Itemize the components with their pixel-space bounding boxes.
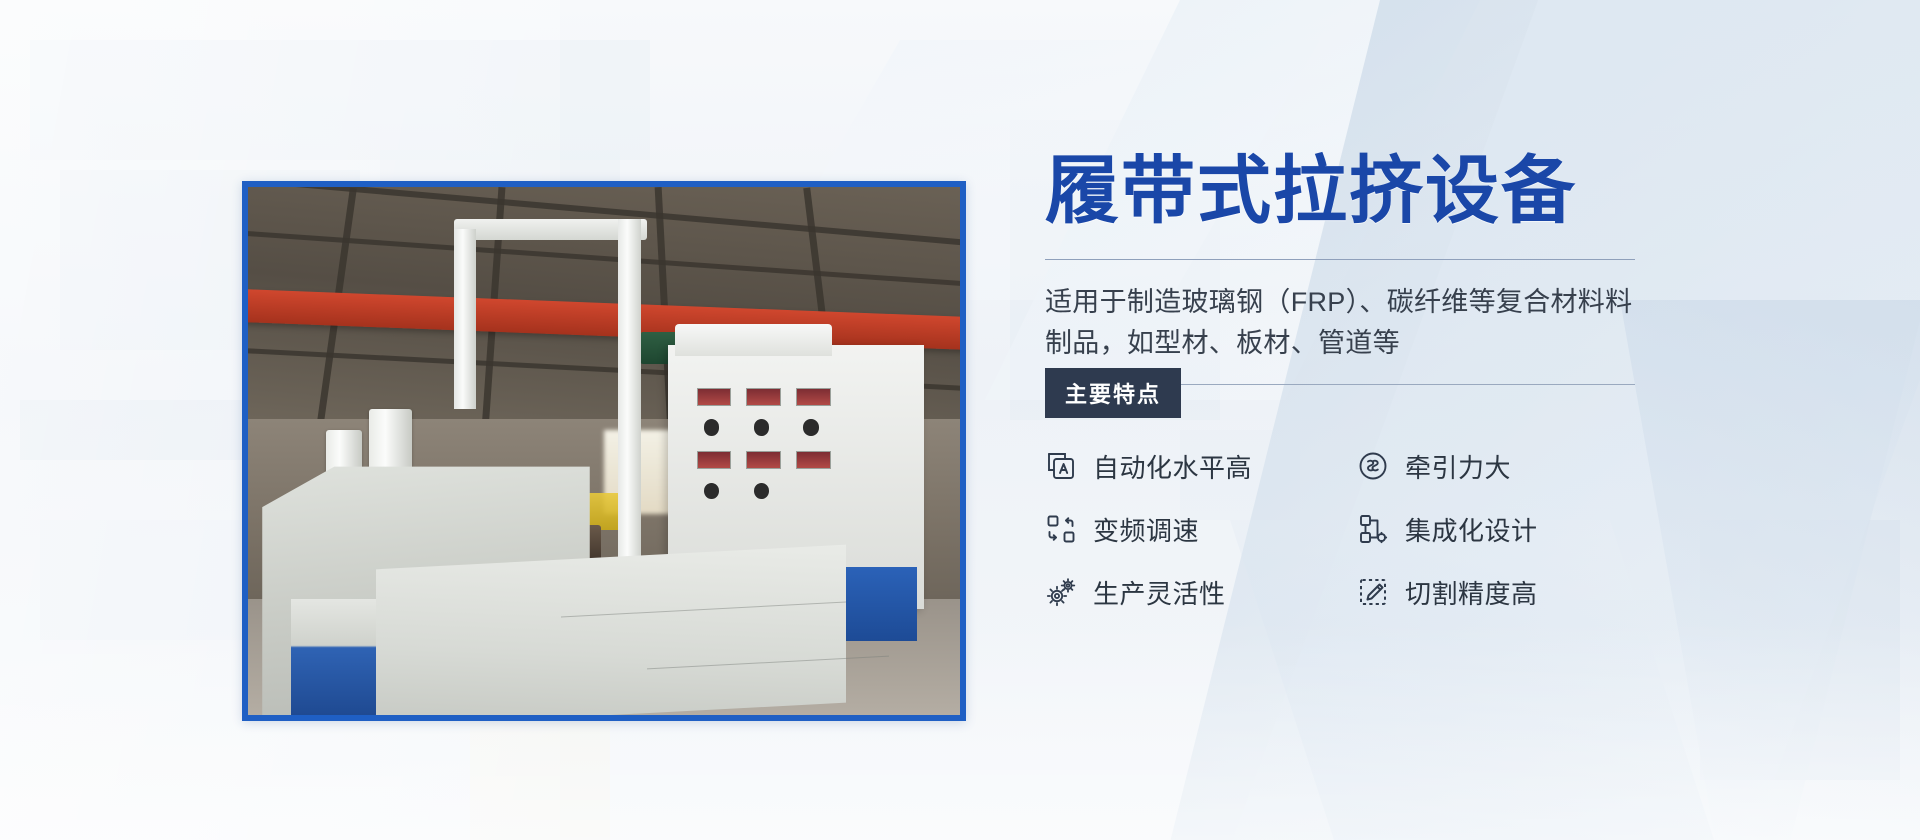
photo-cabinet-display-4 — [697, 451, 732, 469]
feature-label: 变频调速 — [1093, 511, 1199, 548]
cut-precision-pen-icon — [1357, 576, 1389, 608]
frequency-speed-icon — [1045, 513, 1077, 545]
feature-item-cut-precision[interactable]: 切割精度高 — [1357, 574, 1669, 611]
feature-label: 自动化水平高 — [1093, 448, 1252, 485]
photo-gantry-left-post — [454, 229, 475, 409]
page-title: 履带式拉挤设备 — [1045, 150, 1765, 233]
feature-item-integrated[interactable]: 集成化设计 — [1357, 511, 1669, 548]
photo-cabinet-top — [675, 324, 832, 356]
subtitle-text: 适用于制造玻璃钢（FRP）、碳纤维等复合材料料制品，如型材、板材、管道等 — [1045, 282, 1645, 364]
traction-circle-icon — [1357, 450, 1389, 482]
feature-label: 集成化设计 — [1405, 511, 1538, 548]
banner-content: 履带式拉挤设备 适用于制造玻璃钢（FRP）、碳纤维等复合材料料制品，如型材、板材… — [1045, 150, 1765, 611]
feature-item-flexibility[interactable]: 生产灵活性 — [1045, 574, 1357, 611]
feature-item-traction[interactable]: 牵引力大 — [1357, 448, 1669, 485]
integrated-design-icon — [1357, 513, 1389, 545]
photo-cabinet-display-2 — [746, 388, 781, 406]
photo-cabinet-knob-5 — [754, 483, 770, 499]
photo-cabinet-display-6 — [796, 451, 831, 469]
automation-a-square-icon — [1045, 450, 1077, 482]
photo-cabinet-knob-3 — [803, 419, 819, 435]
gears-flexibility-icon — [1045, 576, 1077, 608]
product-banner: 履带式拉挤设备 适用于制造玻璃钢（FRP）、碳纤维等复合材料料制品，如型材、板材… — [0, 0, 1920, 840]
feature-item-frequency[interactable]: 变频调速 — [1045, 511, 1357, 548]
photo-cabinet-display-5 — [746, 451, 781, 469]
feature-item-automation[interactable]: 自动化水平高 — [1045, 448, 1357, 485]
product-photo — [242, 181, 966, 721]
feature-label: 生产灵活性 — [1093, 574, 1226, 611]
photo-product-slab — [376, 544, 846, 721]
photo-cabinet-display-1 — [697, 388, 732, 406]
photo-gantry-right-post — [618, 219, 641, 589]
feature-list: 自动化水平高 牵引力大 — [1045, 448, 1765, 611]
photo-cabinet-display-3 — [796, 388, 831, 406]
photo-cabinet-knob-2 — [754, 419, 770, 435]
status-badge: 主要特点 — [1045, 368, 1181, 418]
photo-cabinet-knob-1 — [704, 419, 720, 435]
feature-label: 牵引力大 — [1405, 448, 1511, 485]
feature-label: 切割精度高 — [1405, 574, 1538, 611]
title-divider — [1045, 259, 1635, 260]
